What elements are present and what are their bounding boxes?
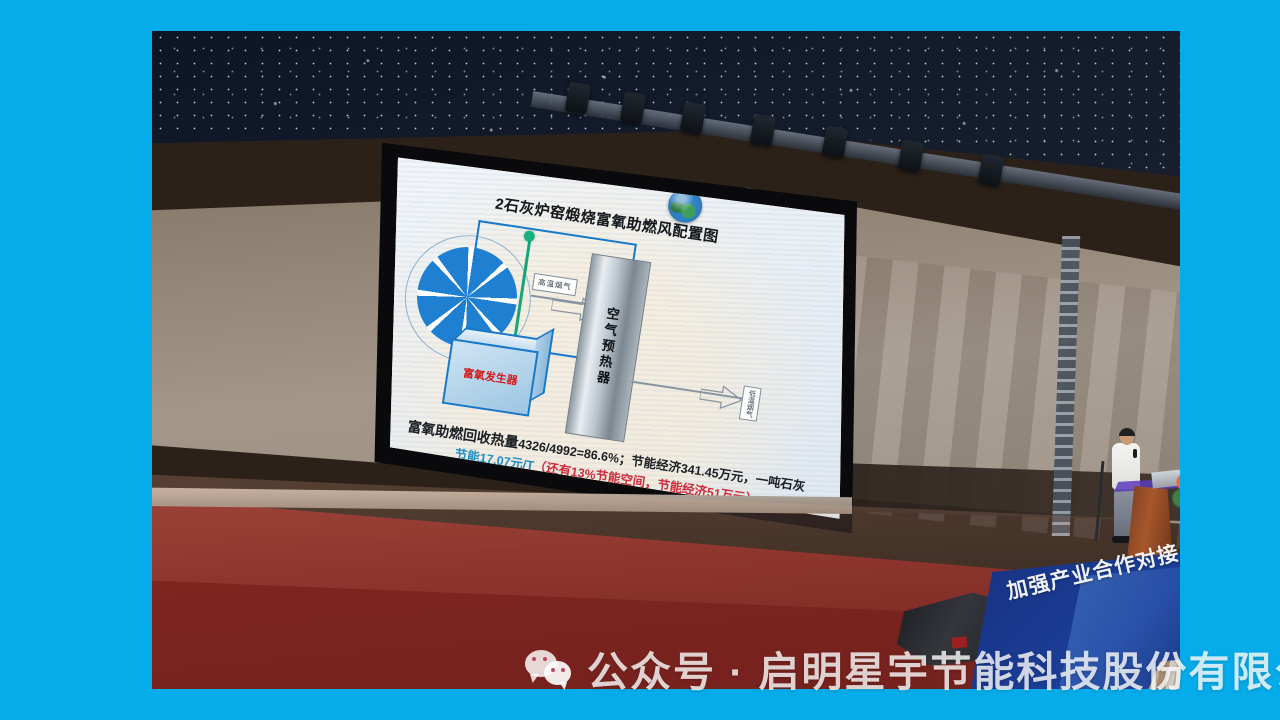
conference-photo: 2石灰炉窑煅烧富氧助燃风配置图 高温烟气 bbox=[152, 31, 1180, 689]
watermark: 公众号 · 启明星宇节能科技股份有限公司 bbox=[525, 638, 1280, 698]
wechat-icon bbox=[525, 648, 573, 688]
watermark-text: 公众号 · 启明星宇节能科技股份有限公司 bbox=[587, 638, 1280, 698]
microphone-icon bbox=[1133, 449, 1137, 458]
label-low-flue-gas: 低温烟气 bbox=[739, 385, 762, 421]
pipe-top bbox=[478, 220, 637, 246]
valve-node-green bbox=[523, 230, 536, 243]
flower-arrangement bbox=[1172, 466, 1180, 512]
stage-lamp-icon bbox=[978, 153, 1005, 186]
page-root: 2石灰炉窑煅烧富氧助燃风配置图 高温烟气 bbox=[0, 0, 1280, 720]
oxygen-generator-box: 富氧发生器 bbox=[442, 338, 539, 416]
